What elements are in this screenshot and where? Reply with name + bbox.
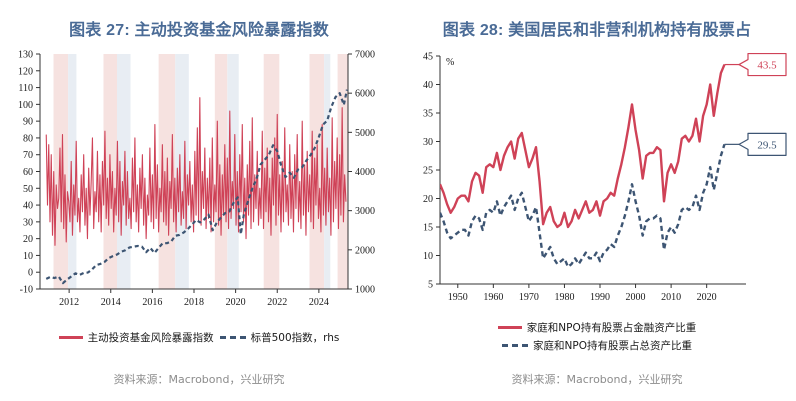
series-group-27 xyxy=(46,90,347,283)
source-note-28: 资料来源：Macrobond，兴业研究 xyxy=(398,371,796,387)
series-line-1 xyxy=(46,98,346,246)
y-tick-label: 40 xyxy=(423,80,433,91)
callout-value: 29.5 xyxy=(757,139,777,151)
y-tick-label-right: 1000 xyxy=(355,285,375,296)
y-tick-label: 30 xyxy=(423,137,433,148)
callout-value: 43.5 xyxy=(757,60,777,72)
callout-29.5: 29.5 xyxy=(724,133,786,155)
chart-28-svg: 5101520253035404519501960197019801990200… xyxy=(398,44,796,314)
y-tick-label: 25 xyxy=(423,166,433,177)
y-tick-label-left: 90 xyxy=(23,117,33,128)
x-tick-label: 1950 xyxy=(448,292,468,303)
x-tick-label: 2014 xyxy=(101,297,121,308)
series-line-2 xyxy=(440,144,724,267)
y-tick-label: 5 xyxy=(428,280,433,291)
panel-chart-28: 图表 28: 美国居民和非营利机构持有股票占 51015202530354045… xyxy=(398,0,796,401)
y-tick-label-left: 110 xyxy=(18,83,33,94)
x-tick-label: 1980 xyxy=(554,292,574,303)
legend-28: 家庭和NPO持有股票占金融资产比重 家庭和NPO持有股票占总资产比重 xyxy=(398,320,796,353)
y-tick-label-right: 5000 xyxy=(355,128,375,139)
y-tick-label-right: 4000 xyxy=(355,167,375,178)
y-tick-label: 10 xyxy=(423,251,433,262)
y-tick-label-right: 3000 xyxy=(355,206,375,217)
x-tick-label: 1970 xyxy=(519,292,539,303)
y-axis-unit-label: % xyxy=(446,57,454,68)
legend-row-28-total: 家庭和NPO持有股票占总资产比重 xyxy=(502,338,692,353)
legend-row-28-financial: 家庭和NPO持有股票占金融资产比重 xyxy=(498,320,696,335)
x-tick-label: 2016 xyxy=(142,297,162,308)
callout-43.5: 43.5 xyxy=(724,54,786,76)
x-tick-label: 2020 xyxy=(697,292,717,303)
panel-chart-27: 图表 27: 主动投资基金风险暴露指数 -1001020304050607080… xyxy=(0,0,398,401)
plot-area-28: 5101520253035404519501960197019801990200… xyxy=(398,44,796,314)
legend-swatch-dashed-navy-icon xyxy=(220,336,246,339)
y-tick-label-left: 60 xyxy=(23,167,33,178)
legend-item-share-of-total-assets[interactable]: 家庭和NPO持有股票占总资产比重 xyxy=(502,338,692,353)
legend-item-sp500[interactable]: 标普500指数，rhs xyxy=(220,330,340,345)
x-tick-label: 2022 xyxy=(267,297,287,308)
y-tick-label-left: 50 xyxy=(23,184,33,195)
x-tick-label: 2012 xyxy=(59,297,79,308)
y-tick-label-left: 10 xyxy=(23,251,33,262)
y-tick-label-left: 130 xyxy=(18,50,33,61)
figure-pair-container: 图表 27: 主动投资基金风险暴露指数 -1001020304050607080… xyxy=(0,0,796,401)
y-tick-label-left: 20 xyxy=(23,234,33,245)
y-tick-label-left: 70 xyxy=(23,150,33,161)
y-tick-label-left: 30 xyxy=(23,217,33,228)
legend-row-27: 主动投资基金风险暴露指数 标普500指数，rhs xyxy=(59,330,340,345)
legend-swatch-solid-red-icon xyxy=(498,326,522,329)
y-tick-label: 35 xyxy=(423,109,433,120)
y-tick-label-right: 7000 xyxy=(355,50,375,61)
axes-28: 5101520253035404519501960197019801990200… xyxy=(423,52,746,304)
plot-area-27: -100102030405060708090100110120130100020… xyxy=(0,44,398,314)
x-tick-label: 2018 xyxy=(184,297,204,308)
panel-title-27: 图表 27: 主动投资基金风险暴露指数 xyxy=(0,16,398,40)
x-tick-label: 2000 xyxy=(626,292,646,303)
legend-label-share-of-financial-assets: 家庭和NPO持有股票占金融资产比重 xyxy=(527,320,696,335)
x-tick-label: 2010 xyxy=(661,292,681,303)
legend-swatch-solid-red-icon xyxy=(59,336,83,339)
legend-item-share-of-financial-assets[interactable]: 家庭和NPO持有股票占金融资产比重 xyxy=(498,320,696,335)
y-tick-label: 20 xyxy=(423,194,433,205)
panel-title-28: 图表 28: 美国居民和非营利机构持有股票占 xyxy=(398,16,796,40)
legend-label-sp500: 标普500指数，rhs xyxy=(251,330,340,345)
x-tick-label: 2020 xyxy=(226,297,246,308)
y-tick-label-left: 120 xyxy=(18,66,33,77)
x-tick-label: 1990 xyxy=(590,292,610,303)
y-tick-label-right: 2000 xyxy=(355,245,375,256)
legend-label-share-of-total-assets: 家庭和NPO持有股票占总资产比重 xyxy=(533,338,692,353)
y-tick-label: 45 xyxy=(423,52,433,63)
y-tick-label: 15 xyxy=(423,223,433,234)
x-tick-label: 1960 xyxy=(483,292,503,303)
callouts-28: 43.529.5 xyxy=(724,54,786,156)
y-tick-label-left: -10 xyxy=(20,285,33,296)
legend-27: 主动投资基金风险暴露指数 标普500指数，rhs xyxy=(0,330,398,345)
legend-swatch-dashed-navy-icon xyxy=(502,344,528,347)
series-line-1 xyxy=(440,65,724,227)
y-tick-label-right: 6000 xyxy=(355,89,375,100)
y-tick-label-left: 80 xyxy=(23,133,33,144)
x-tick-label: 2024 xyxy=(309,297,329,308)
y-tick-label-left: 100 xyxy=(18,100,33,111)
chart-27-svg: -100102030405060708090100110120130100020… xyxy=(0,44,398,314)
legend-item-active-fund-risk[interactable]: 主动投资基金风险暴露指数 xyxy=(59,330,214,345)
series-group-28 xyxy=(440,65,724,267)
y-tick-label-left: 40 xyxy=(23,201,33,212)
source-note-27: 资料来源：Macrobond，兴业研究 xyxy=(0,371,398,387)
y-tick-label-left: 0 xyxy=(28,268,33,279)
legend-label-active-fund-risk: 主动投资基金风险暴露指数 xyxy=(88,330,214,345)
